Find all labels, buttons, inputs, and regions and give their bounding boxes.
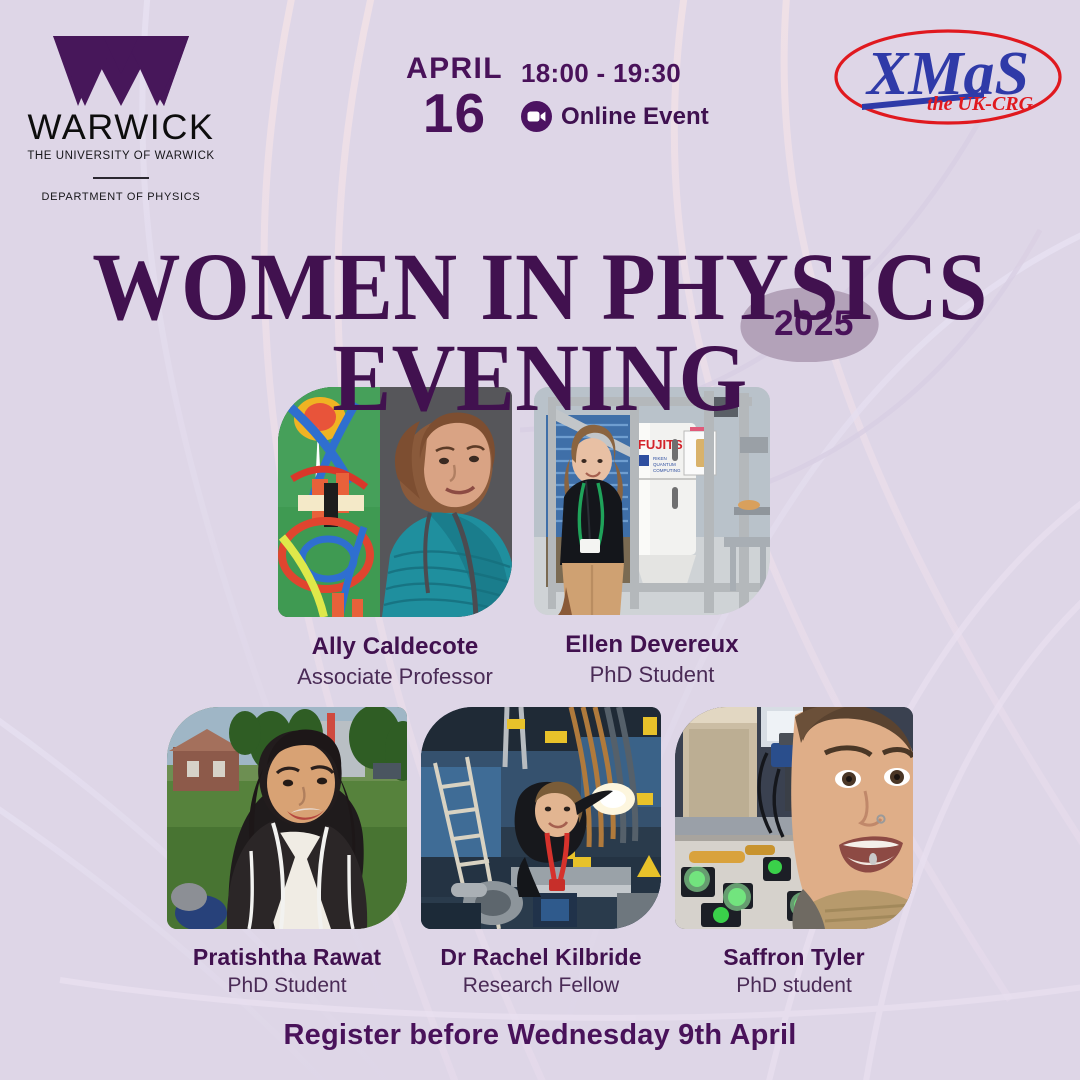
speaker-name: Pratishtha Rawat	[193, 944, 381, 971]
speaker-role: PhD student	[736, 974, 852, 998]
speaker-card: Dr Rachel Kilbride Research Fellow	[421, 707, 661, 998]
event-date: APRIL 16	[406, 54, 503, 141]
speaker-photo	[167, 707, 407, 929]
speaker-role: PhD Student	[590, 662, 715, 688]
speaker-photo	[675, 707, 913, 929]
page-title: WOMEN IN PHYSICS EVENING	[43, 242, 1037, 422]
warwick-department: DEPARTMENT OF PHYSICS	[26, 191, 216, 203]
svg-text:RIKEN: RIKEN	[653, 456, 667, 461]
event-time: 18:00 - 19:30	[521, 58, 709, 89]
event-datetime-block: APRIL 16 18:00 - 19:30 Online Event	[406, 54, 709, 141]
speaker-role: Research Fellow	[463, 974, 619, 998]
svg-text:QUANTUM: QUANTUM	[653, 462, 676, 467]
speaker-name: Dr Rachel Kilbride	[440, 944, 641, 971]
speaker-name: Saffron Tyler	[723, 944, 864, 971]
speaker-card: Saffron Tyler PhD student	[675, 707, 913, 998]
register-notice: Register before Wednesday 9th April	[0, 1019, 1080, 1052]
warwick-logo: WARWICK THE UNIVERSITY OF WARWICK DEPART…	[26, 34, 216, 203]
event-month: APRIL	[406, 54, 503, 84]
speaker-role: PhD Student	[227, 974, 346, 998]
speaker-row-2: Pratishtha Rawat PhD Student	[167, 707, 913, 998]
warwick-subtitle: THE UNIVERSITY OF WARWICK	[26, 150, 216, 162]
speaker-card: Pratishtha Rawat PhD Student	[167, 707, 407, 998]
poster-canvas: WARWICK THE UNIVERSITY OF WARWICK DEPART…	[0, 0, 1080, 1080]
speaker-row-1: Ally Caldecote Associate Professor	[278, 387, 770, 690]
speaker-card: Ally Caldecote Associate Professor	[278, 387, 512, 690]
svg-text:COMPUTING: COMPUTING	[653, 468, 681, 473]
xmas-uk-crg-logo: XMaS the UK-CRG	[832, 22, 1064, 132]
warwick-wordmark: WARWICK	[23, 110, 219, 145]
speaker-photo	[421, 707, 661, 929]
event-mode-label: Online Event	[561, 103, 709, 131]
speaker-role: Associate Professor	[297, 664, 493, 690]
warwick-divider	[93, 177, 149, 179]
event-day: 16	[406, 86, 503, 141]
speaker-name: Ellen Devereux	[565, 631, 739, 659]
event-mode-row: Online Event	[521, 101, 709, 132]
speaker-card: FUJITSU RIKEN QUANTUM COMPUTING	[534, 387, 770, 690]
warwick-w-icon	[51, 34, 191, 106]
xmas-sub-text: the UK-CRG	[927, 93, 1034, 115]
title-line-2: EVENING	[43, 333, 1037, 423]
video-camera-icon	[521, 101, 552, 132]
speaker-name: Ally Caldecote	[312, 633, 479, 661]
event-time-mode: 18:00 - 19:30 Online Event	[521, 54, 709, 132]
